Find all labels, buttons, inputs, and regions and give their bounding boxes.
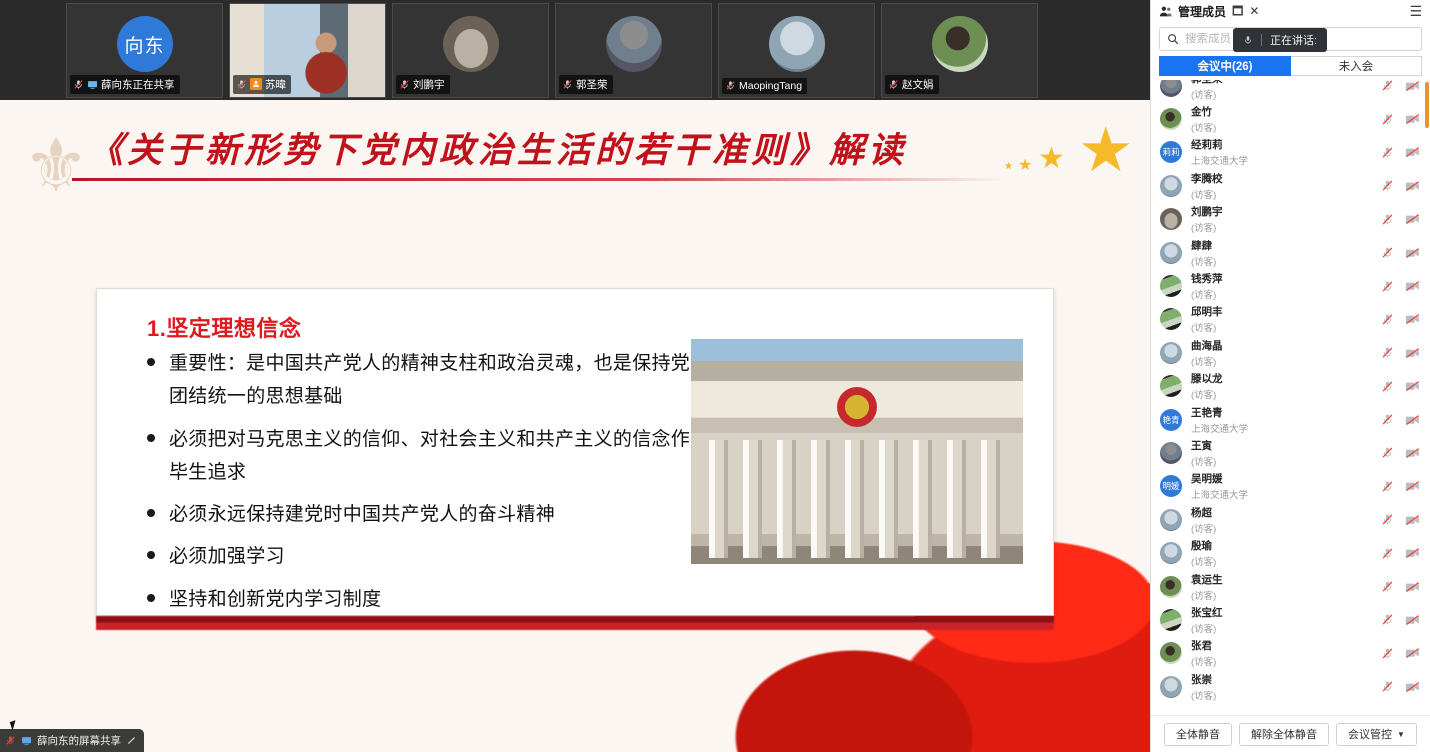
photo-column bbox=[947, 440, 966, 558]
participant-name: 钱秀萍 bbox=[1191, 271, 1381, 286]
slide-bullet: 坚持和创新党内学习制度 bbox=[147, 583, 747, 616]
thumbnail-label-bar: 赵文娟 bbox=[885, 75, 939, 94]
bullet-text: 重要性：是中国共产党人的精神支柱和政治灵魂，也是保持党的团结统一的思想基础 bbox=[169, 347, 724, 414]
avatar bbox=[1160, 342, 1182, 364]
button-label: 全体静音 bbox=[1176, 726, 1220, 742]
bullet-dot-icon bbox=[147, 358, 155, 366]
participant-name: 赵文娟 bbox=[902, 77, 934, 92]
participant-row[interactable]: 张君(访客) bbox=[1151, 637, 1430, 670]
participant-org: 上海交通大学 bbox=[1191, 487, 1381, 501]
avatar bbox=[1160, 375, 1182, 397]
footer-button-会议管控[interactable]: 会议管控▼ bbox=[1336, 723, 1417, 746]
bullet-text: 必须永远保持建党时中国共产党人的奋斗精神 bbox=[169, 498, 724, 531]
mic-muted-icon[interactable] bbox=[725, 80, 736, 91]
video-thumbnail[interactable]: 赵文娟 bbox=[881, 3, 1038, 98]
avatar: 莉莉 bbox=[1160, 141, 1182, 163]
photo-column bbox=[709, 440, 728, 558]
participant-name: MaopingTang bbox=[739, 80, 802, 92]
participant-row[interactable]: 滕以龙(访客) bbox=[1151, 370, 1430, 403]
great-hall-photo bbox=[691, 339, 1023, 564]
participant-name: 薛向东正在共享 bbox=[101, 77, 175, 92]
bullet-dot-icon bbox=[147, 594, 155, 602]
participant-info: 郭圣荣(访客) bbox=[1191, 80, 1381, 101]
camera-off-icon[interactable] bbox=[1405, 113, 1420, 125]
mic-muted-icon[interactable] bbox=[888, 79, 899, 90]
participant-info: 殷瑜(访客) bbox=[1191, 538, 1381, 568]
participant-name: 殷瑜 bbox=[1191, 538, 1381, 553]
participant-info: 张崇(访客) bbox=[1191, 672, 1381, 702]
participant-org: (访客) bbox=[1191, 187, 1381, 201]
camera-off-icon[interactable] bbox=[1405, 547, 1420, 559]
participant-controls bbox=[1381, 647, 1420, 660]
mic-muted-icon[interactable] bbox=[1381, 513, 1394, 526]
speaking-label: 正在讲话: bbox=[1270, 32, 1317, 48]
camera-off-icon[interactable] bbox=[1405, 614, 1420, 626]
star-icon-tiny: ★ bbox=[1004, 162, 1013, 172]
participant-name: 刘鹏宇 bbox=[1191, 204, 1381, 219]
avatar bbox=[1160, 175, 1182, 197]
slide-title: 《关于新形势下党内政治生活的若干准则》解读 bbox=[88, 122, 907, 173]
thumbnail-label-bar: 苏暐 bbox=[233, 75, 291, 94]
avatar bbox=[1160, 509, 1182, 531]
avatar bbox=[1160, 308, 1182, 330]
video-thumbnail[interactable]: 向东薛向东正在共享 bbox=[66, 3, 223, 98]
mic-muted-icon[interactable] bbox=[1381, 179, 1394, 192]
participant-info: 张宝红(访客) bbox=[1191, 605, 1381, 635]
photo-column bbox=[811, 440, 830, 558]
slide-card-underline bbox=[96, 616, 1054, 630]
avatar bbox=[1160, 80, 1182, 97]
participant-controls bbox=[1381, 146, 1420, 159]
tab-not-joined[interactable]: 未入会 bbox=[1291, 56, 1422, 76]
participant-row[interactable]: 艳青王艳青上海交通大学 bbox=[1151, 403, 1430, 436]
avatar bbox=[1160, 642, 1182, 664]
mic-muted-icon[interactable] bbox=[1381, 80, 1394, 92]
participant-org: (访客) bbox=[1191, 87, 1381, 101]
participant-name: 郭圣荣 bbox=[576, 77, 608, 92]
photo-column bbox=[913, 440, 932, 558]
participant-info: 张君(访客) bbox=[1191, 638, 1381, 668]
star-icon-medium: ★ bbox=[1038, 144, 1065, 174]
participant-org: (访客) bbox=[1191, 120, 1381, 134]
participant-info: 王艳青上海交通大学 bbox=[1191, 405, 1381, 435]
avatar bbox=[1160, 208, 1182, 230]
chevron-down-icon: ▼ bbox=[1397, 730, 1405, 739]
participant-info: 李腾校(访客) bbox=[1191, 171, 1381, 201]
panel-header: 管理成员 🗖 ✕ ☰ bbox=[1151, 0, 1430, 22]
slide-bullet: 重要性：是中国共产党人的精神支柱和政治灵魂，也是保持党的团结统一的思想基础 bbox=[147, 347, 747, 414]
participant-controls bbox=[1381, 480, 1420, 493]
mic-muted-icon[interactable] bbox=[1381, 146, 1394, 159]
participant-info: 王寅(访客) bbox=[1191, 438, 1381, 468]
slide-heading: 1.坚定理想信念 bbox=[147, 311, 301, 343]
participant-name: 张崇 bbox=[1191, 672, 1381, 687]
participant-info: 邱明丰(访客) bbox=[1191, 304, 1381, 334]
participant-controls bbox=[1381, 179, 1420, 192]
camera-off-icon[interactable] bbox=[1405, 414, 1420, 426]
participant-row[interactable]: 曲海晶(访客) bbox=[1151, 336, 1430, 369]
pill-divider bbox=[1261, 34, 1262, 46]
participant-row[interactable]: 王寅(访客) bbox=[1151, 436, 1430, 469]
participant-row[interactable]: 袁运生(访客) bbox=[1151, 570, 1430, 603]
participant-info: 经莉莉上海交通大学 bbox=[1191, 137, 1381, 167]
video-thumbnail[interactable]: 刘鹏宇 bbox=[392, 3, 549, 98]
participant-row[interactable]: 明媛吴明媛上海交通大学 bbox=[1151, 470, 1430, 503]
photo-column bbox=[743, 440, 762, 558]
star-icon-small: ★ bbox=[1018, 158, 1032, 174]
avatar: 向东 bbox=[117, 16, 173, 72]
bullet-text: 必须加强学习 bbox=[169, 540, 724, 573]
mic-muted-icon[interactable] bbox=[1381, 613, 1394, 626]
host-badge-icon bbox=[250, 78, 262, 90]
slide-bullet: 必须永远保持建党时中国共产党人的奋斗精神 bbox=[147, 498, 747, 531]
participant-name: 曲海晶 bbox=[1191, 338, 1381, 353]
panel-tabs: 会议中(26)未入会 bbox=[1151, 54, 1430, 80]
meeting-app: 向东薛向东正在共享苏暐刘鹏宇郭圣荣MaopingTang赵文娟 ⚜ 《关于新形势… bbox=[0, 0, 1430, 752]
participant-controls bbox=[1381, 680, 1420, 693]
participant-name: 经莉莉 bbox=[1191, 137, 1381, 152]
bullet-text: 必须把对马克思主义的信仰、对社会主义和共产主义的信念作为毕生追求 bbox=[169, 423, 724, 490]
screen-share-icon bbox=[87, 79, 98, 90]
mic-muted-icon[interactable] bbox=[1381, 446, 1394, 459]
bullet-text: 坚持和创新党内学习制度 bbox=[169, 583, 724, 616]
button-label: 解除全体静音 bbox=[1251, 726, 1317, 742]
participant-row[interactable]: 肆肆(访客) bbox=[1151, 236, 1430, 269]
mic-muted-icon[interactable] bbox=[1381, 580, 1394, 593]
participant-org: (访客) bbox=[1191, 688, 1381, 702]
participant-org: (访客) bbox=[1191, 621, 1381, 635]
participant-controls bbox=[1381, 80, 1420, 92]
participant-org: (访客) bbox=[1191, 354, 1381, 368]
share-status-label: 薛向东的屏幕共享 bbox=[37, 733, 121, 748]
list-scrollbar[interactable] bbox=[1425, 82, 1429, 128]
camera-off-icon[interactable] bbox=[1405, 347, 1420, 359]
participant-org: (访客) bbox=[1191, 521, 1381, 535]
popout-icon[interactable]: 🗖 bbox=[1232, 5, 1243, 17]
footer-button-全体静音[interactable]: 全体静音 bbox=[1164, 723, 1232, 746]
avatar bbox=[769, 16, 825, 72]
photo-column bbox=[845, 440, 864, 558]
slide-bullet: 必须把对马克思主义的信仰、对社会主义和共产主义的信念作为毕生追求 bbox=[147, 423, 747, 490]
mic-muted-icon[interactable] bbox=[1381, 647, 1394, 660]
camera-off-icon[interactable] bbox=[1405, 581, 1420, 593]
avatar bbox=[1160, 609, 1182, 631]
slide-bullet: 必须加强学习 bbox=[147, 540, 747, 573]
panel-footer: 全体静音解除全体静音会议管控▼ bbox=[1151, 715, 1430, 752]
mic-muted-icon[interactable] bbox=[1381, 246, 1394, 259]
video-thumbnail[interactable]: MaopingTang bbox=[718, 3, 875, 98]
participant-info: 袁运生(访客) bbox=[1191, 572, 1381, 602]
participant-name: 滕以龙 bbox=[1191, 371, 1381, 386]
participant-org: (访客) bbox=[1191, 454, 1381, 468]
close-icon[interactable]: ✕ bbox=[1249, 5, 1259, 17]
avatar bbox=[1160, 108, 1182, 130]
participant-info: 金竹(访客) bbox=[1191, 104, 1381, 134]
participant-controls bbox=[1381, 380, 1420, 393]
participant-name: 杨超 bbox=[1191, 505, 1381, 520]
thumbnail-label-bar: 薛向东正在共享 bbox=[70, 75, 180, 94]
mic-muted-icon[interactable] bbox=[562, 79, 573, 90]
participant-org: 上海交通大学 bbox=[1191, 153, 1381, 167]
camera-off-icon[interactable] bbox=[1405, 313, 1420, 325]
avatar: 艳青 bbox=[1160, 409, 1182, 431]
search-icon bbox=[1167, 33, 1179, 45]
camera-off-icon[interactable] bbox=[1405, 180, 1420, 192]
participant-info: 滕以龙(访客) bbox=[1191, 371, 1381, 401]
tab-in-meeting[interactable]: 会议中(26) bbox=[1159, 56, 1291, 76]
avatar bbox=[1160, 576, 1182, 598]
bullet-dot-icon bbox=[147, 434, 155, 442]
participant-org: (访客) bbox=[1191, 320, 1381, 334]
microphone-icon bbox=[1243, 34, 1253, 46]
camera-off-icon[interactable] bbox=[1405, 146, 1420, 158]
participant-name: 吴明媛 bbox=[1191, 471, 1381, 486]
mic-muted-icon[interactable] bbox=[399, 79, 410, 90]
mic-muted-icon[interactable] bbox=[1381, 346, 1394, 359]
photo-column bbox=[981, 440, 1000, 558]
participant-name: 袁运生 bbox=[1191, 572, 1381, 587]
participant-name: 张宝红 bbox=[1191, 605, 1381, 620]
button-label: 会议管控 bbox=[1348, 726, 1392, 742]
participant-info: 曲海晶(访客) bbox=[1191, 338, 1381, 368]
video-thumbnail[interactable]: 郭圣荣 bbox=[555, 3, 712, 98]
hamburger-menu-icon[interactable]: ☰ bbox=[1409, 4, 1422, 18]
participant-org: (访客) bbox=[1191, 254, 1381, 268]
camera-off-icon[interactable] bbox=[1405, 213, 1420, 225]
participant-name: 李腾校 bbox=[1191, 171, 1381, 186]
participant-org: (访客) bbox=[1191, 554, 1381, 568]
avatar bbox=[443, 16, 499, 72]
photo-roof bbox=[691, 339, 1023, 381]
camera-off-icon[interactable] bbox=[1405, 681, 1420, 693]
participant-controls bbox=[1381, 613, 1420, 626]
participant-controls bbox=[1381, 280, 1420, 293]
avatar bbox=[1160, 442, 1182, 464]
search-area: 正在讲话: bbox=[1151, 22, 1430, 54]
participant-controls bbox=[1381, 113, 1420, 126]
participant-name: 郭圣荣 bbox=[1191, 80, 1381, 86]
avatar bbox=[1160, 676, 1182, 698]
camera-off-icon[interactable] bbox=[1405, 447, 1420, 459]
participant-org: (访客) bbox=[1191, 387, 1381, 401]
participant-controls bbox=[1381, 513, 1420, 526]
participant-name: 王寅 bbox=[1191, 438, 1381, 453]
participant-controls bbox=[1381, 547, 1420, 560]
participant-info: 钱秀萍(访客) bbox=[1191, 271, 1381, 301]
participant-row[interactable]: 张崇(访客) bbox=[1151, 670, 1430, 703]
participant-org: (访客) bbox=[1191, 654, 1381, 668]
now-speaking-indicator: 正在讲话: bbox=[1233, 28, 1327, 52]
photo-column bbox=[777, 440, 796, 558]
video-filmstrip: 向东薛向东正在共享苏暐刘鹏宇郭圣荣MaopingTang赵文娟 bbox=[0, 0, 1150, 100]
participant-info: 杨超(访客) bbox=[1191, 505, 1381, 535]
mic-muted-icon[interactable] bbox=[1381, 547, 1394, 560]
participant-controls bbox=[1381, 346, 1420, 359]
camera-off-icon[interactable] bbox=[1405, 247, 1420, 259]
participant-row[interactable]: 张宝红(访客) bbox=[1151, 603, 1430, 636]
screen-share-icon bbox=[21, 735, 32, 746]
camera-off-icon[interactable] bbox=[1405, 647, 1420, 659]
thumbnail-label-bar: MaopingTang bbox=[722, 78, 807, 94]
participant-org: 上海交通大学 bbox=[1191, 421, 1381, 435]
participant-row[interactable]: 殷瑜(访客) bbox=[1151, 536, 1430, 569]
annotate-pencil-icon[interactable] bbox=[126, 735, 137, 746]
participant-controls bbox=[1381, 446, 1420, 459]
people-icon bbox=[1159, 5, 1172, 18]
camera-off-icon[interactable] bbox=[1405, 514, 1420, 526]
participant-org: (访客) bbox=[1191, 220, 1381, 234]
screen-share-status-bar[interactable]: 薛向东的屏幕共享 bbox=[0, 729, 144, 752]
participant-row[interactable]: 莉莉经莉莉上海交通大学 bbox=[1151, 136, 1430, 169]
participant-controls bbox=[1381, 246, 1420, 259]
thumbnail-label-bar: 郭圣荣 bbox=[559, 75, 613, 94]
mic-muted-icon bbox=[5, 735, 16, 746]
avatar bbox=[1160, 542, 1182, 564]
avatar: 明媛 bbox=[1160, 475, 1182, 497]
mic-muted-icon[interactable] bbox=[1381, 280, 1394, 293]
participant-name: 金竹 bbox=[1191, 104, 1381, 119]
avatar bbox=[932, 16, 988, 72]
slide-content-card: 1.坚定理想信念 重要性：是中国共产党人的精神支柱和政治灵魂，也是保持党的团结统… bbox=[96, 288, 1054, 616]
participant-name: 王艳青 bbox=[1191, 405, 1381, 420]
bullet-dot-icon bbox=[147, 551, 155, 559]
thumbnail-label-bar: 刘鹏宇 bbox=[396, 75, 450, 94]
participant-controls bbox=[1381, 313, 1420, 326]
footer-button-解除全体静音[interactable]: 解除全体静音 bbox=[1239, 723, 1329, 746]
photo-column bbox=[879, 440, 898, 558]
participants-panel: 管理成员 🗖 ✕ ☰ 正在讲话: bbox=[1150, 0, 1430, 752]
participant-controls bbox=[1381, 213, 1420, 226]
participant-info: 刘鹏宇(访客) bbox=[1191, 204, 1381, 234]
participants-list-inner: 郭圣荣(访客)金竹(访客)莉莉经莉莉上海交通大学李腾校(访客)刘鹏宇(访客)肆肆… bbox=[1151, 80, 1430, 703]
participant-name: 邱明丰 bbox=[1191, 304, 1381, 319]
avatar bbox=[1160, 275, 1182, 297]
bullet-dot-icon bbox=[147, 509, 155, 517]
slide-bullet-list: 重要性：是中国共产党人的精神支柱和政治灵魂，也是保持党的团结统一的思想基础必须把… bbox=[147, 347, 747, 625]
mic-muted-icon[interactable] bbox=[1381, 113, 1394, 126]
participant-name: 张君 bbox=[1191, 638, 1381, 653]
participant-row[interactable]: 刘鹏宇(访客) bbox=[1151, 203, 1430, 236]
participant-controls bbox=[1381, 413, 1420, 426]
participants-list[interactable]: 郭圣荣(访客)金竹(访客)莉莉经莉莉上海交通大学李腾校(访客)刘鹏宇(访客)肆肆… bbox=[1151, 80, 1430, 715]
avatar bbox=[1160, 242, 1182, 264]
title-divider bbox=[72, 178, 1010, 181]
camera-off-icon[interactable] bbox=[1405, 80, 1420, 92]
participant-info: 吴明媛上海交通大学 bbox=[1191, 471, 1381, 501]
avatar bbox=[606, 16, 662, 72]
mic-muted-icon[interactable] bbox=[1381, 680, 1394, 693]
participant-org: (访客) bbox=[1191, 287, 1381, 301]
camera-off-icon[interactable] bbox=[1405, 280, 1420, 292]
mic-muted-icon[interactable] bbox=[1381, 413, 1394, 426]
participant-row[interactable]: 李腾校(访客) bbox=[1151, 169, 1430, 202]
video-thumbnail[interactable]: 苏暐 bbox=[229, 3, 386, 98]
shared-screen-slide: ⚜ 《关于新形势下党内政治生活的若干准则》解读 ★ ★ ★ ★ 1.坚定理想信念… bbox=[0, 100, 1150, 752]
mic-muted-icon[interactable] bbox=[73, 79, 84, 90]
participant-name: 刘鹏宇 bbox=[413, 77, 445, 92]
participant-org: (访客) bbox=[1191, 588, 1381, 602]
camera-off-icon[interactable] bbox=[1405, 480, 1420, 492]
panel-title: 管理成员 bbox=[1178, 3, 1226, 20]
participant-name: 肆肆 bbox=[1191, 238, 1381, 253]
national-emblem-icon bbox=[837, 387, 877, 427]
participant-row[interactable]: 郭圣荣(访客) bbox=[1151, 80, 1430, 102]
participant-info: 肆肆(访客) bbox=[1191, 238, 1381, 268]
participant-row[interactable]: 钱秀萍(访客) bbox=[1151, 269, 1430, 302]
mic-muted-icon[interactable] bbox=[1381, 213, 1394, 226]
star-icon-large: ★ bbox=[1078, 120, 1134, 182]
meeting-stage: 向东薛向东正在共享苏暐刘鹏宇郭圣荣MaopingTang赵文娟 ⚜ 《关于新形势… bbox=[0, 0, 1150, 752]
participant-row[interactable]: 杨超(访客) bbox=[1151, 503, 1430, 536]
participant-row[interactable]: 邱明丰(访客) bbox=[1151, 303, 1430, 336]
mic-muted-icon[interactable] bbox=[1381, 380, 1394, 393]
participant-controls bbox=[1381, 580, 1420, 593]
participant-row[interactable]: 金竹(访客) bbox=[1151, 102, 1430, 135]
mic-muted-icon[interactable] bbox=[236, 79, 247, 90]
participant-name: 苏暐 bbox=[265, 77, 286, 92]
mic-muted-icon[interactable] bbox=[1381, 480, 1394, 493]
mic-muted-icon[interactable] bbox=[1381, 313, 1394, 326]
camera-off-icon[interactable] bbox=[1405, 380, 1420, 392]
